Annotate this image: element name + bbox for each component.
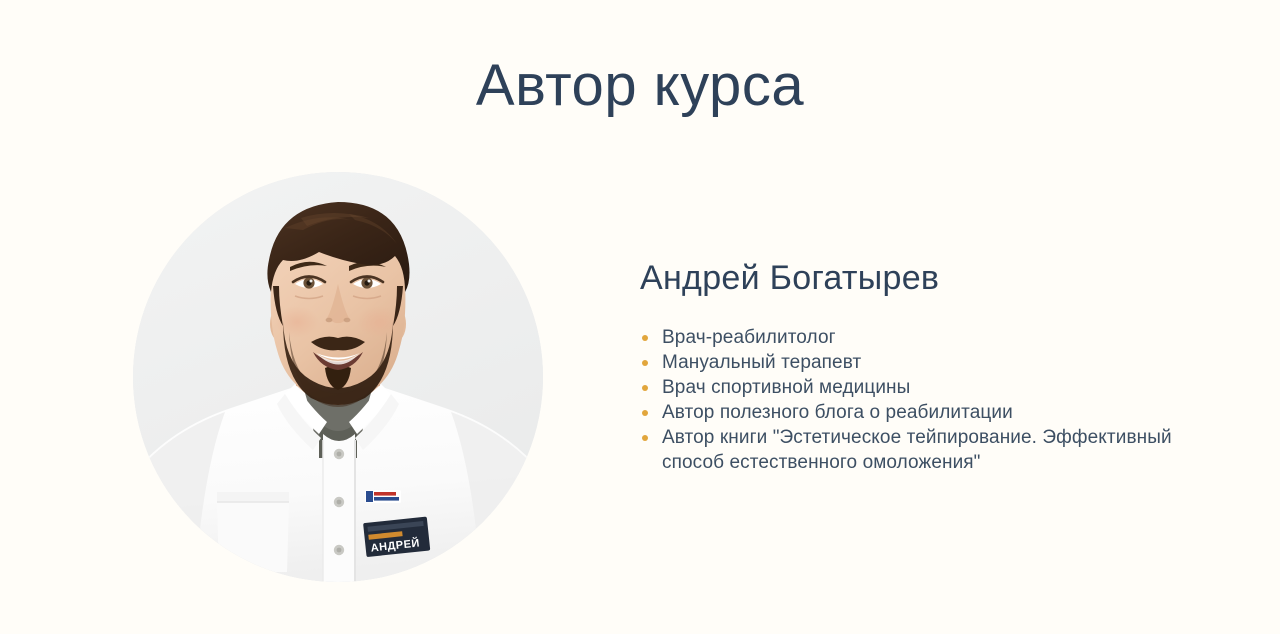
bullet-icon: [642, 435, 648, 441]
list-item: Мануальный терапевт: [640, 350, 1200, 375]
list-item-label: Автор книги "Эстетическое тейпирование. …: [662, 427, 1172, 473]
author-credentials-list: Врач-реабилитолог Мануальный терапевт Вр…: [640, 325, 1200, 475]
list-item: Врач-реабилитолог: [640, 325, 1200, 350]
list-item: Автор книги "Эстетическое тейпирование. …: [640, 425, 1200, 475]
portrait-image: АНДРЕЙ: [133, 172, 543, 582]
bullet-icon: [642, 385, 648, 391]
list-item-label: Автор полезного блога о реабилитации: [662, 402, 1013, 423]
author-bio: Андрей Богатырев Врач-реабилитолог Мануа…: [640, 258, 1200, 475]
list-item: Автор полезного блога о реабилитации: [640, 400, 1200, 425]
author-name: Андрей Богатырев: [640, 258, 1200, 299]
author-section: Автор курса: [0, 0, 1280, 634]
list-item-label: Врач-реабилитолог: [662, 327, 836, 348]
list-item: Врач спортивной медицины: [640, 375, 1200, 400]
bullet-icon: [642, 410, 648, 416]
list-item-label: Врач спортивной медицины: [662, 377, 910, 398]
author-photo: АНДРЕЙ: [133, 172, 543, 582]
bullet-icon: [642, 360, 648, 366]
list-item-label: Мануальный терапевт: [662, 352, 861, 373]
page-title: Автор курса: [0, 53, 1280, 120]
bullet-icon: [642, 335, 648, 341]
